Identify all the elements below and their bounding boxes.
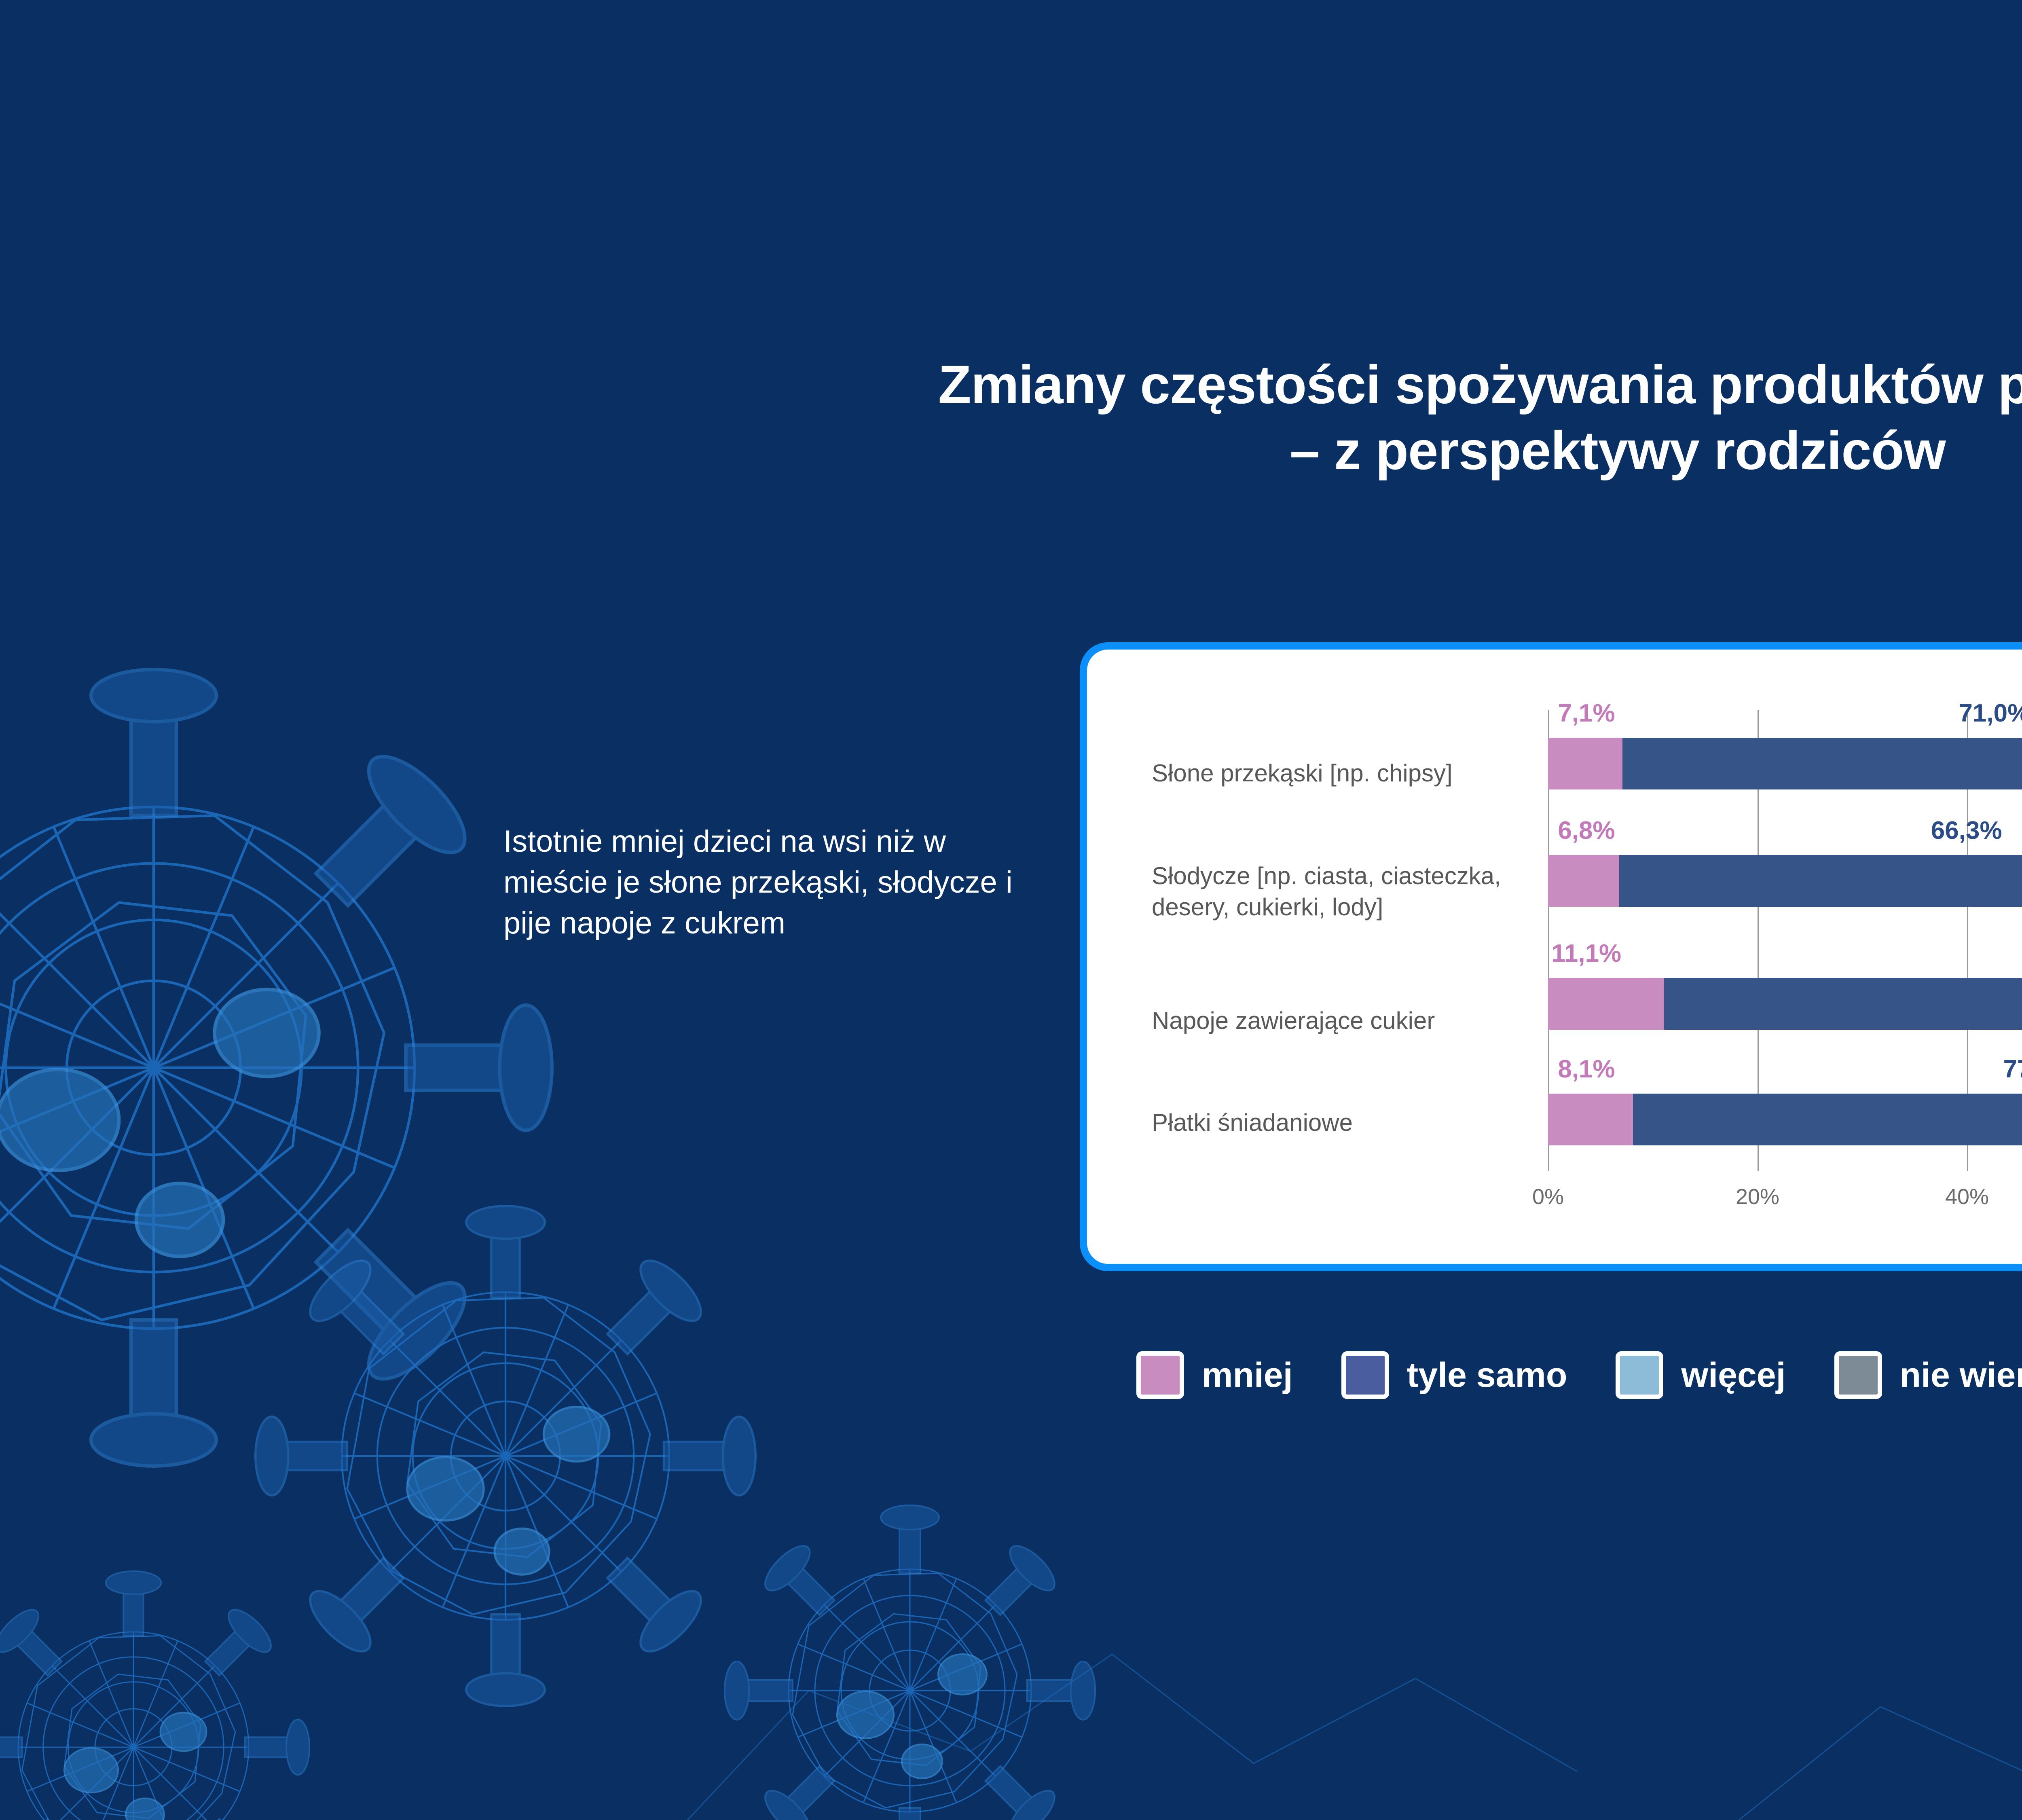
bar-row <box>1548 855 2022 907</box>
bar-row <box>1548 978 2022 1030</box>
value-label-tyle: 77,5% <box>2003 1055 2022 1084</box>
legend-label: więcej <box>1681 1355 1785 1395</box>
legend-label: tyle samo <box>1407 1355 1567 1395</box>
legend-swatch-mniej <box>1136 1351 1184 1399</box>
value-label-mniej: 11,1% <box>1552 939 1621 968</box>
bar-segment-mniej <box>1548 855 1619 907</box>
bar-segment-mniej <box>1548 738 1622 789</box>
bar-segment-mniej <box>1548 978 1664 1030</box>
insight-note: Istotnie mniej dzieci na wsi niż w mieśc… <box>503 821 1037 944</box>
bar-segment-tyle <box>1664 978 2022 1030</box>
chart-card: 0%20%40%60%80%100%7,1%71,0%17,0%4,9%6,8%… <box>1080 642 2022 1271</box>
bar-segment-mniej <box>1548 1094 1633 1145</box>
value-label-tyle: 71,0% <box>1959 699 2022 728</box>
legend-item[interactable]: więcej <box>1616 1351 1785 1399</box>
category-label: Słodycze [np. ciasta, ciasteczka, desery… <box>1152 861 1528 923</box>
x-axis-tick-label: 40% <box>1945 1184 1989 1209</box>
page-title: Zmiany częstości spożywania produktów pr… <box>0 352 2022 484</box>
value-label-mniej: 6,8% <box>1558 816 1615 845</box>
bar-segment-tyle <box>1622 738 2022 789</box>
chart-plot-area: 0%20%40%60%80%100%7,1%71,0%17,0%4,9%6,8%… <box>1087 650 2022 1264</box>
category-label: Napoje zawierające cukier <box>1152 1005 1528 1037</box>
legend-item[interactable]: tyle samo <box>1341 1351 1567 1399</box>
x-axis-tick-label: 20% <box>1736 1184 1779 1209</box>
category-label: Płatki śniadaniowe <box>1152 1107 1528 1139</box>
bar-segment-tyle <box>1633 1094 2022 1145</box>
bar-row <box>1548 738 2022 789</box>
title-line-2: – z perspektywy rodziców <box>0 418 2022 484</box>
legend-swatch-wiecej <box>1616 1351 1663 1399</box>
title-line-1: Zmiany częstości spożywania produktów pr… <box>0 352 2022 418</box>
legend-swatch-niewiem <box>1834 1351 1882 1399</box>
legend-label: nie wiem <box>1900 1355 2022 1395</box>
bar-row <box>1548 1094 2022 1145</box>
bar-segment-tyle <box>1619 855 2022 907</box>
value-label-mniej: 7,1% <box>1558 699 1615 728</box>
chart-legend: mniejtyle samowięcejnie wiem <box>1136 1335 2022 1416</box>
value-label-tyle: 66,3% <box>1931 816 2002 845</box>
legend-swatch-tyle <box>1341 1351 1389 1399</box>
x-axis-tick-label: 0% <box>1532 1184 1564 1209</box>
legend-item[interactable]: mniej <box>1136 1351 1293 1399</box>
category-label: Słone przekąski [np. chipsy] <box>1152 758 1528 789</box>
legend-label: mniej <box>1202 1355 1293 1395</box>
value-label-mniej: 8,1% <box>1558 1055 1615 1084</box>
legend-item[interactable]: nie wiem <box>1834 1351 2022 1399</box>
